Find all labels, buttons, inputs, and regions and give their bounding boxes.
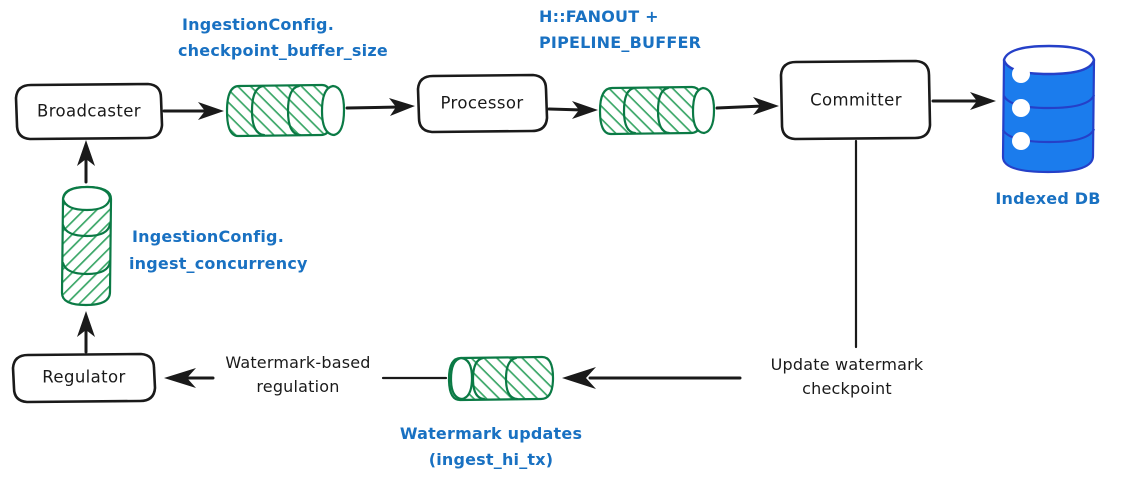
arrow-pipeline-queue-to-committer	[717, 97, 779, 115]
annotation-ingest-concurrency: IngestionConfig. ingest_concurrency	[129, 227, 308, 273]
committer-label: Committer	[810, 91, 902, 110]
node-committer[interactable]: Committer	[781, 61, 930, 139]
node-processor[interactable]: Processor	[418, 75, 547, 132]
annotation-indexed-db: Indexed DB	[995, 189, 1100, 208]
annotation-checkpoint-buffer-size: IngestionConfig. checkpoint_buffer_size	[178, 15, 388, 60]
update-watermark-checkpoint-line2: checkpoint	[802, 379, 892, 398]
arrow-shaft	[347, 107, 400, 108]
fanout-annotation-line2: PIPELINE_BUFFER	[539, 33, 701, 52]
arrow-broadcaster-to-checkpoint-queue	[164, 102, 224, 120]
arrow-shaft	[717, 106, 764, 108]
queue-ingest-concurrency[interactable]	[62, 187, 111, 305]
arrow-shaft	[549, 109, 583, 110]
arrow-concurrency-queue-to-broadcaster	[77, 140, 95, 182]
indexed-db-indicator-2	[1012, 99, 1030, 117]
fanout-annotation-line1: H::FANOUT +	[539, 7, 659, 26]
arrow-processor-to-pipeline-queue	[549, 101, 598, 119]
indexed-db-label: Indexed DB	[995, 189, 1100, 208]
annotation-watermark-updates: Watermark updates (ingest_hi_tx)	[400, 424, 582, 469]
regulator-label: Regulator	[42, 368, 125, 387]
ingest-concurrency-annotation-line2: ingest_concurrency	[129, 254, 308, 273]
checkpoint-buffer-annotation-line1: IngestionConfig.	[182, 15, 334, 34]
watermark-updates-annotation-line1: Watermark updates	[400, 424, 582, 443]
node-regulator[interactable]: Regulator	[13, 354, 155, 402]
arrow-watermark-label-to-regulator	[164, 368, 213, 388]
queue-checkpoint-buffer[interactable]	[227, 85, 344, 136]
checkpoint-queue-body	[227, 85, 333, 136]
annotation-fanout-pipeline-buffer: H::FANOUT + PIPELINE_BUFFER	[539, 7, 701, 52]
queue-pipeline-buffer[interactable]	[600, 87, 714, 134]
watermark-based-regulation-line2: regulation	[256, 377, 339, 396]
processor-label: Processor	[440, 94, 523, 113]
broadcaster-label: Broadcaster	[37, 102, 141, 121]
indexed-db-indicator-1	[1012, 65, 1030, 83]
watermark-based-regulation-line1: Watermark-based	[225, 353, 370, 372]
diagram-canvas: Broadcaster Processor Committer Regulato…	[0, 0, 1124, 479]
indexed-db-indicator-3	[1012, 132, 1030, 150]
pipeline-diagram: Broadcaster Processor Committer Regulato…	[0, 0, 1124, 479]
checkpoint-buffer-annotation-line2: checkpoint_buffer_size	[178, 41, 388, 60]
pipeline-queue-cap	[693, 88, 714, 133]
watermark-updates-annotation-line2: (ingest_hi_tx)	[429, 450, 554, 469]
checkpoint-queue-cap	[322, 86, 344, 135]
arrow-regulator-to-concurrency-queue	[77, 311, 95, 352]
update-watermark-checkpoint-line1: Update watermark	[771, 355, 924, 374]
pipeline-queue-body	[600, 87, 703, 134]
node-indexed-db[interactable]	[1003, 46, 1094, 172]
queue-watermark-updates[interactable]	[449, 357, 553, 400]
edge-label-update-watermark-checkpoint: Update watermark checkpoint	[771, 355, 924, 398]
node-broadcaster[interactable]: Broadcaster	[16, 84, 162, 139]
ingest-concurrency-annotation-line1: IngestionConfig.	[132, 227, 284, 246]
arrow-committer-to-indexed-db	[933, 92, 996, 110]
arrow-checkpoint-queue-to-processor	[347, 98, 415, 116]
watermark-queue-left-cap	[451, 358, 472, 399]
arrow-update-watermark-to-queue	[562, 367, 740, 389]
edge-label-watermark-based-regulation: Watermark-based regulation	[225, 353, 370, 396]
concurrency-queue-cap	[63, 187, 110, 210]
